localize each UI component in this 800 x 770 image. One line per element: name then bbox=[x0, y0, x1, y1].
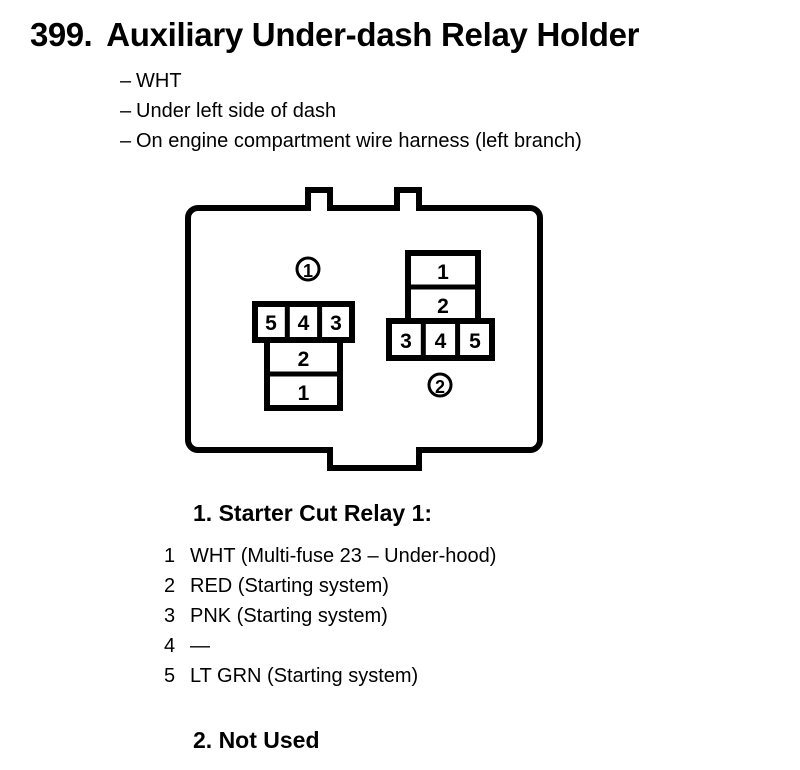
pin-number: 4 bbox=[164, 631, 190, 661]
connector-2-callout-label: 2 bbox=[435, 377, 445, 397]
connector-1-callout: 1 bbox=[297, 258, 319, 281]
title-number: 399. bbox=[30, 16, 92, 54]
bullet-dash: – bbox=[120, 126, 136, 156]
page-title: 399. Auxiliary Under-dash Relay Holder bbox=[30, 16, 639, 54]
connector-2-pin-cell: 3 bbox=[400, 330, 412, 353]
bullet-dash: – bbox=[120, 66, 136, 96]
section-heading-1: 1. Starter Cut Relay 1: bbox=[193, 500, 432, 527]
pin-row: 4 — bbox=[164, 631, 496, 661]
connector-1-top-row: 5 4 3 bbox=[255, 304, 352, 340]
pin-description: WHT (Multi-fuse 23 – Under-hood) bbox=[190, 541, 496, 571]
connector-2-callout: 2 bbox=[429, 374, 451, 397]
manual-page: 399. Auxiliary Under-dash Relay Holder –… bbox=[0, 0, 800, 770]
connector-2-pin-cell: 2 bbox=[437, 295, 449, 318]
pin-description: — bbox=[190, 631, 210, 661]
connector-2-stack: 1 2 bbox=[408, 253, 478, 321]
pin-number: 1 bbox=[164, 541, 190, 571]
connector-1-pin-cell: 1 bbox=[298, 382, 310, 405]
pin-description: PNK (Starting system) bbox=[190, 601, 388, 631]
pin-row: 5 LT GRN (Starting system) bbox=[164, 661, 496, 691]
connector-housing-outline bbox=[188, 190, 540, 468]
connector-2-pin-cell: 1 bbox=[437, 261, 449, 284]
pin-assignment-list: 1 WHT (Multi-fuse 23 – Under-hood) 2 RED… bbox=[164, 541, 496, 691]
bullet-label: WHT bbox=[136, 66, 182, 96]
pin-row: 1 WHT (Multi-fuse 23 – Under-hood) bbox=[164, 541, 496, 571]
bullet-label: On engine compartment wire harness (left… bbox=[136, 126, 582, 156]
connector-1-pin-cell: 5 bbox=[265, 312, 277, 335]
connector-1-group: 1 5 4 3 2 1 bbox=[255, 258, 352, 408]
connector-2-bottom-row: 3 4 5 bbox=[389, 321, 492, 358]
description-bullets: – WHT – Under left side of dash – On eng… bbox=[120, 66, 582, 156]
pin-row: 3 PNK (Starting system) bbox=[164, 601, 496, 631]
connector-2-pin-cell: 4 bbox=[435, 330, 447, 353]
connector-1-callout-label: 1 bbox=[303, 261, 313, 281]
pin-number: 5 bbox=[164, 661, 190, 691]
connector-2-group: 1 2 3 4 5 2 bbox=[389, 253, 492, 397]
connector-1-pin-cell: 3 bbox=[330, 312, 342, 335]
bullet-item: – WHT bbox=[120, 66, 582, 96]
bullet-item: – Under left side of dash bbox=[120, 96, 582, 126]
connector-1-stack: 2 1 bbox=[267, 340, 340, 408]
pin-number: 3 bbox=[164, 601, 190, 631]
bullet-item: – On engine compartment wire harness (le… bbox=[120, 126, 582, 156]
title-text: Auxiliary Under-dash Relay Holder bbox=[106, 16, 639, 54]
connector-1-pin-cell: 2 bbox=[298, 348, 310, 371]
bullet-dash: – bbox=[120, 96, 136, 126]
connector-1-pin-cell: 4 bbox=[298, 312, 310, 335]
pin-row: 2 RED (Starting system) bbox=[164, 571, 496, 601]
relay-holder-diagram: 1 5 4 3 2 1 bbox=[175, 178, 565, 478]
bullet-label: Under left side of dash bbox=[136, 96, 336, 126]
pin-description: RED (Starting system) bbox=[190, 571, 389, 601]
pin-number: 2 bbox=[164, 571, 190, 601]
section-heading-2: 2. Not Used bbox=[193, 727, 320, 754]
pin-description: LT GRN (Starting system) bbox=[190, 661, 418, 691]
connector-2-pin-cell: 5 bbox=[469, 330, 481, 353]
